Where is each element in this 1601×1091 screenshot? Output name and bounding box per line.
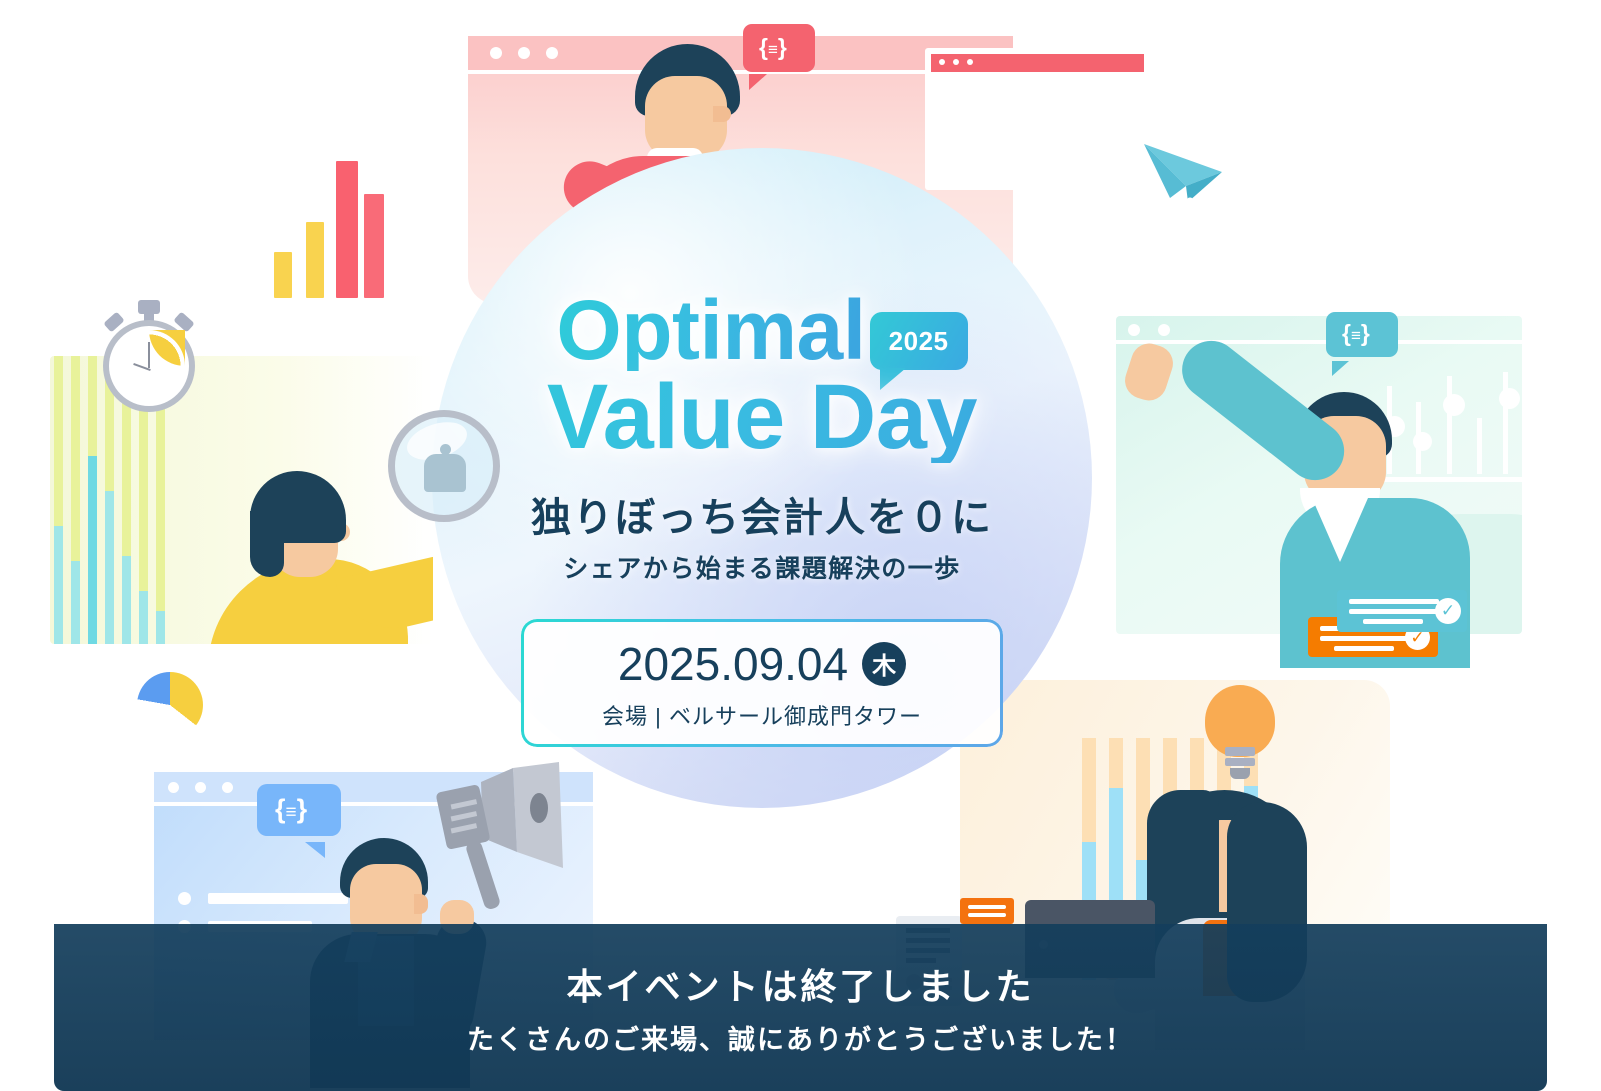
event-date-card: 2025.09.04 木 会場 | ベルサール御成門タワー: [521, 619, 1003, 747]
event-date: 2025.09.04: [618, 637, 848, 691]
pie-chart-icon: [133, 668, 207, 742]
weekday-badge: 木: [862, 642, 906, 686]
event-date-row: 2025.09.04 木: [521, 637, 1003, 691]
arrow-up-icon: [391, 138, 427, 294]
stopwatch-icon: [98, 300, 198, 410]
orange-tab: [960, 898, 1014, 924]
event-venue: 会場 | ベルサール御成門タワー: [521, 699, 1003, 731]
document-lines: [1017, 84, 1091, 160]
checkmark-card-icon: ✓: [1337, 590, 1467, 632]
logo-line-2: Value Day: [432, 373, 1092, 462]
bar-chart-icon: [244, 130, 444, 298]
year-badge-label: 2025: [889, 326, 949, 357]
tagline-main: 独りぼっち会計人を０に: [432, 485, 1092, 543]
document-lines: [233, 688, 383, 734]
banner-title: 本イベントは終了しました: [566, 958, 1034, 1010]
lightbulb-icon: [1205, 685, 1275, 785]
banner-subtitle: たくさんのご来場、誠にありがとうございました！: [467, 1018, 1134, 1057]
code-bubble-icon: {≡}: [1326, 312, 1398, 364]
tagline-sub: シェアから始まる課題解決の一歩: [432, 549, 1092, 585]
logo-line-1: Optimal: [556, 290, 865, 371]
code-bubble-icon: {≡}: [257, 784, 341, 844]
logo-row: Optimal 2025: [432, 290, 1092, 371]
year-badge: 2025: [870, 312, 968, 370]
hero-headline: Optimal 2025 Value Day 独りぼっち会計人を０に シェアから…: [432, 290, 1092, 747]
event-hero-banner: {≡}: [0, 0, 1601, 1091]
event-ended-banner: 本イベントは終了しました たくさんのご来場、誠にありがとうございました！: [54, 924, 1547, 1091]
